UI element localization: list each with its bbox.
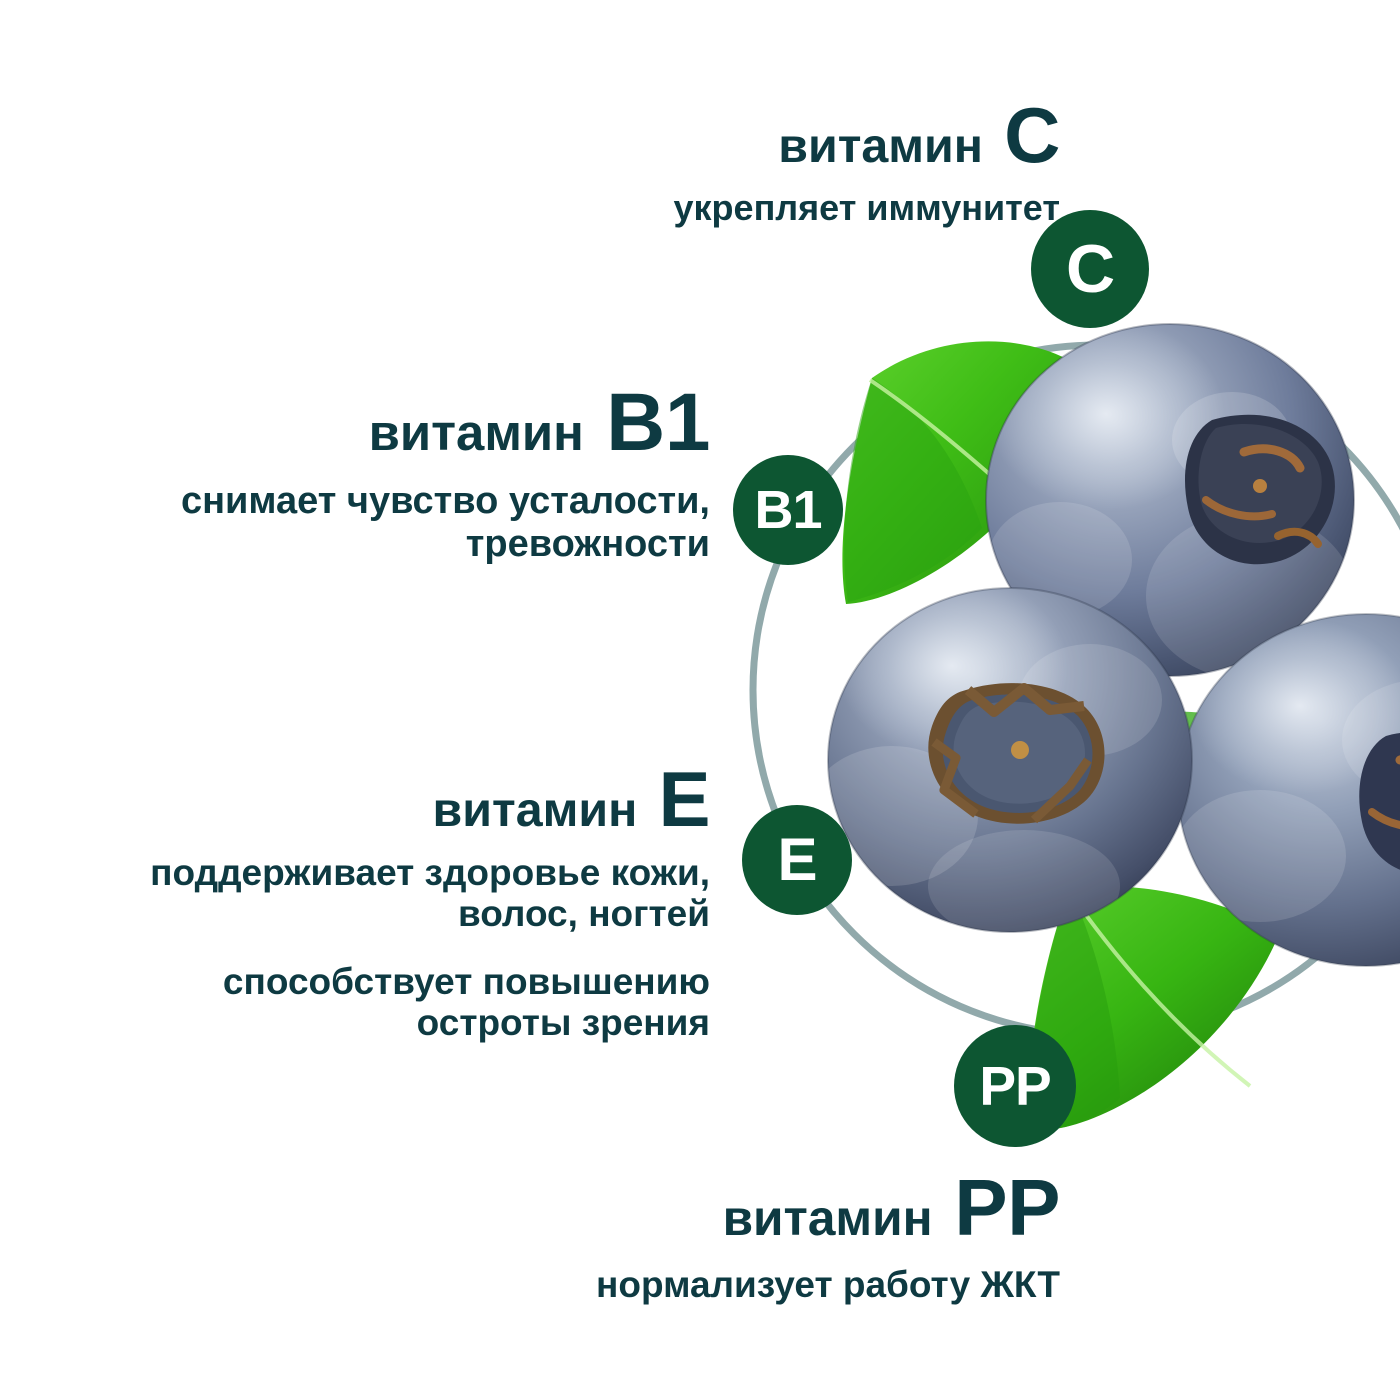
- vitamin-e-line-2: волос, ногтей: [30, 893, 710, 934]
- vitamin-ring: [753, 345, 1400, 1035]
- vitamin-b1-letter: B1: [606, 377, 710, 468]
- leaf-upper: [842, 341, 1093, 604]
- vitamin-c-word: витамин: [778, 119, 983, 173]
- badge-vitamin-e[interactable]: E: [742, 805, 852, 915]
- vitamin-b1-description: снимает чувство усталости, тревожности: [60, 480, 710, 565]
- blueberry-right-lower: [1174, 614, 1400, 966]
- vitamin-c-letter: C: [1004, 91, 1060, 179]
- vitamin-e-block: витамин E поддерживает здоровье кожи, во…: [30, 760, 710, 1044]
- vitamin-e-line-1: поддерживает здоровье кожи,: [30, 852, 710, 893]
- infographic-canvas: витамин C укрепляет иммунитет витамин B1…: [0, 0, 1400, 1400]
- vitamin-pp-block: витамин PP нормализует работу ЖКТ: [360, 1168, 1060, 1305]
- vitamin-pp-title: витамин PP: [360, 1168, 1060, 1248]
- badge-vitamin-pp[interactable]: PP: [954, 1025, 1076, 1147]
- vitamin-e-title: витамин E: [30, 760, 710, 838]
- blueberry-top-right: [986, 318, 1354, 680]
- vitamin-b1-line-1: снимает чувство усталости,: [60, 480, 710, 523]
- vitamin-c-line-1: укрепляет иммунитет: [300, 188, 1060, 228]
- vitamin-b1-block: витамин B1 снимает чувство усталости, тр…: [60, 382, 710, 565]
- vitamin-pp-description: нормализует работу ЖКТ: [360, 1264, 1060, 1305]
- vitamin-b1-word: витамин: [369, 404, 584, 461]
- vitamin-pp-letter: PP: [954, 1163, 1060, 1252]
- vitamin-e-word: витамин: [433, 783, 638, 837]
- vitamin-e-letter: E: [658, 755, 710, 843]
- vitamin-e-description-2: способствует повышению остроты зрения: [30, 961, 710, 1044]
- vitamin-c-block: витамин C укрепляет иммунитет: [300, 96, 1060, 228]
- blueberry-front-center: [806, 574, 1192, 942]
- vitamin-pp-word: витамин: [723, 1190, 933, 1246]
- vitamin-e-line-4: остроты зрения: [30, 1002, 710, 1043]
- vitamin-pp-line-1: нормализует работу ЖКТ: [360, 1264, 1060, 1305]
- vitamin-e-description: поддерживает здоровье кожи, волос, ногте…: [30, 852, 710, 935]
- vitamin-c-title: витамин C: [300, 96, 1060, 174]
- badge-vitamin-c[interactable]: C: [1031, 210, 1149, 328]
- vitamin-b1-line-2: тревожности: [60, 523, 710, 566]
- leaf-sliver: [1140, 712, 1252, 818]
- vitamin-b1-title: витамин B1: [60, 382, 710, 464]
- vitamin-e-line-3: способствует повышению: [30, 961, 710, 1002]
- vitamin-c-description: укрепляет иммунитет: [300, 188, 1060, 228]
- badge-vitamin-b1[interactable]: B1: [733, 455, 843, 565]
